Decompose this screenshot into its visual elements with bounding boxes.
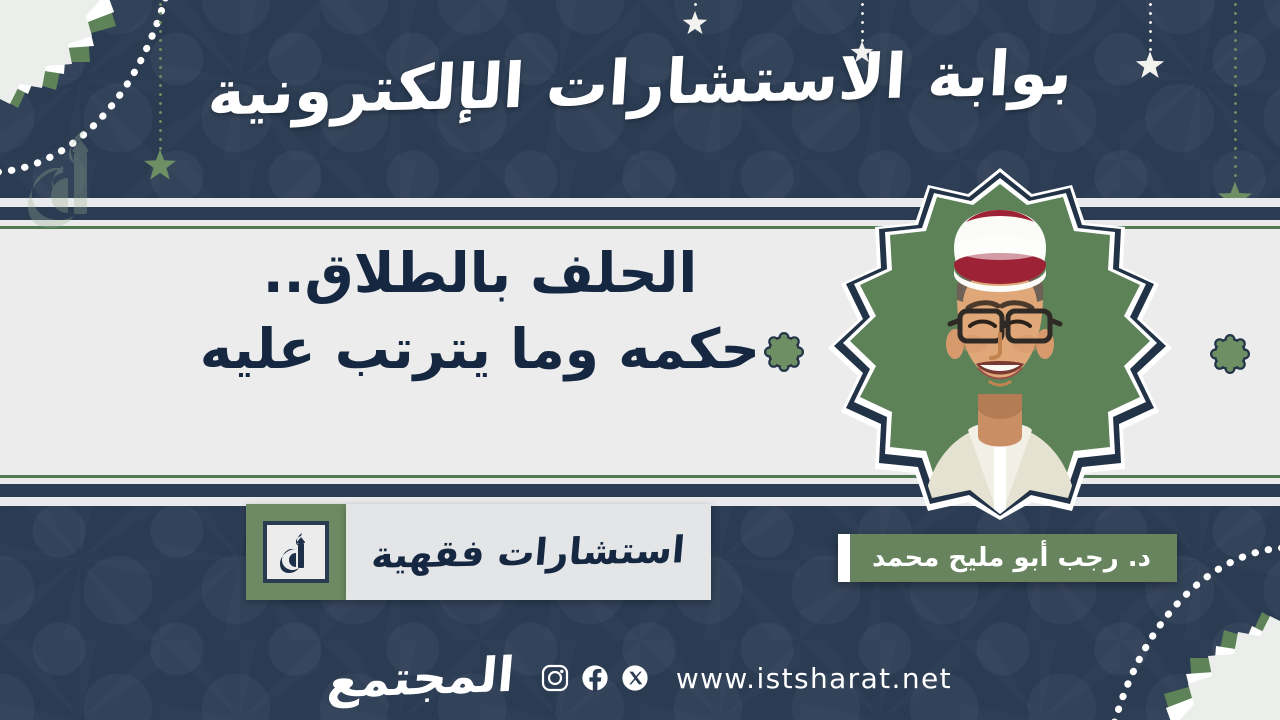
- star-white-right-glyph: [1135, 50, 1165, 80]
- social-icons: [540, 663, 650, 693]
- star-white-right: [1135, 0, 1165, 80]
- speaker-accent: [838, 534, 850, 582]
- corner-ornament-top-left: [0, 0, 148, 152]
- mosque-crescent-icon: [267, 525, 325, 579]
- star-white-right-string: [1149, 0, 1152, 52]
- star-white-center-b: [850, 0, 874, 64]
- program-badge: استشارات فقهية: [246, 504, 711, 600]
- facebook-icon[interactable]: [580, 663, 610, 693]
- x-twitter-icon[interactable]: [620, 663, 650, 693]
- speaker-name-bar: د. رجب أبو مليح محمد: [838, 534, 1177, 582]
- program-badge-frame-inner: [263, 521, 329, 583]
- star-green-left-glyph: [143, 148, 177, 182]
- star-white-center-b-string: [861, 0, 864, 42]
- website-url[interactable]: www.istsharat.net: [676, 662, 952, 695]
- star-green-left-string: [159, 0, 162, 150]
- portrait-frame: [818, 168, 1182, 520]
- star-white-center-b-glyph: [850, 40, 874, 64]
- star-green-right-edge: [1217, 0, 1253, 216]
- speaker-name: د. رجب أبو مليح محمد: [872, 543, 1151, 573]
- program-badge-plate: استشارات فقهية: [346, 504, 711, 600]
- instagram-icon[interactable]: [540, 663, 570, 693]
- dotted-arc-top-left: [0, 0, 220, 180]
- star-white-center-a: [682, 0, 708, 36]
- brand-calligraphy-logo: المجتمع: [326, 651, 517, 705]
- star-green-left: [143, 0, 177, 182]
- program-badge-frame: [246, 504, 346, 600]
- program-badge-label: استشارات فقهية: [370, 531, 686, 573]
- star-white-center-a-string: [694, 0, 697, 12]
- poster-canvas: بوابة الاستشارات الإلكترونية: [0, 0, 1280, 720]
- footer: المجتمع www: [0, 654, 1280, 702]
- portal-title: بوابة الاستشارات الإلكترونية: [0, 44, 1280, 122]
- portal-title-text: بوابة الاستشارات الإلكترونية: [205, 33, 1074, 132]
- star-green-right-edge-string: [1234, 0, 1237, 182]
- speaker-bar: د. رجب أبو مليح محمد: [850, 534, 1177, 582]
- star-white-center-a-glyph: [682, 10, 708, 36]
